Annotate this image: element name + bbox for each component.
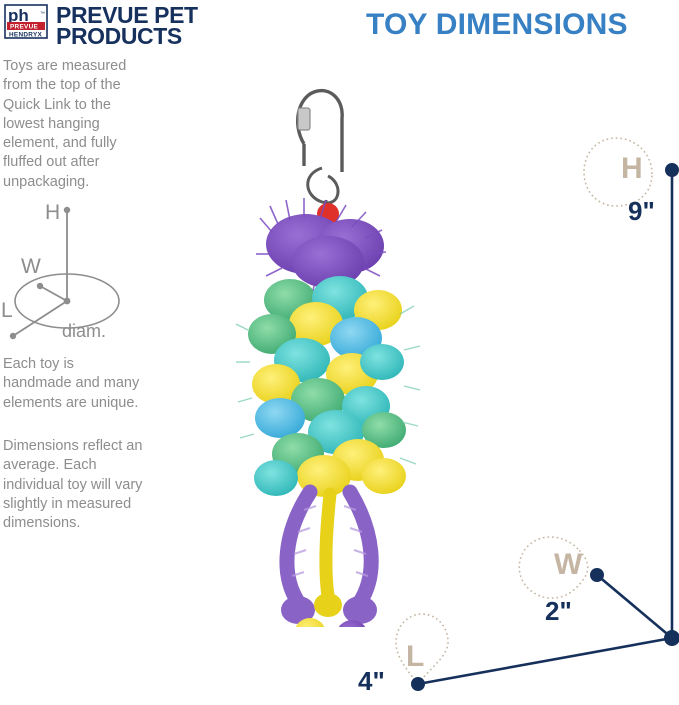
width-value: 2" — [545, 596, 572, 627]
length-measure-line — [418, 638, 672, 684]
height-endpoint-dot — [665, 163, 679, 177]
length-marker-letter: L — [406, 640, 424, 674]
width-endpoint-dot — [590, 568, 604, 582]
width-measure-line — [597, 575, 672, 638]
length-value: 4" — [358, 666, 385, 697]
width-marker-letter: W — [554, 548, 582, 582]
length-endpoint-dot — [411, 677, 425, 691]
toy-dimensions-infographic: ph ™ PREVUE HENDRYX PREVUE PET PRODUCTS … — [0, 0, 679, 705]
height-marker-letter: H — [621, 152, 643, 186]
height-value: 9" — [628, 196, 655, 227]
measurement-overlay: H W L 9" 2" 4" — [0, 0, 679, 705]
